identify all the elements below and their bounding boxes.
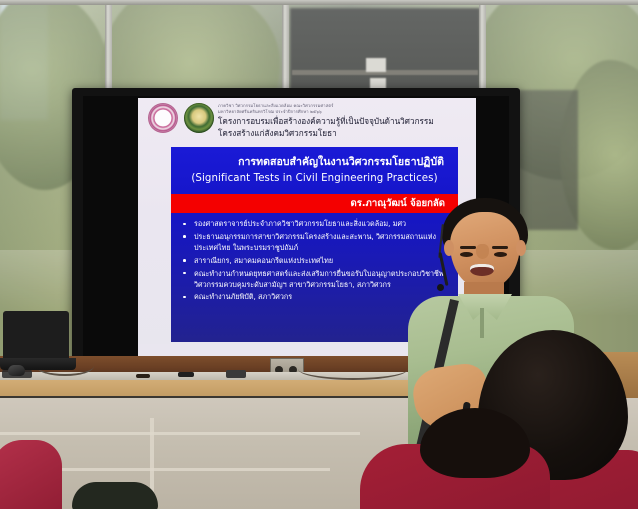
headset-microphone-boom [438,252,448,286]
project-line-1: โครงการอบรมเพื่อสร้างองค์ความรู้ที่เป็นป… [218,116,470,128]
slide-header-text: ภาควิชา วิศวกรรมโยธาและสิ่งแวดล้อม คณะวิ… [218,102,470,139]
audience-member [0,440,82,509]
presenter-laptop[interactable] [3,311,69,361]
presenter-mouth [470,264,494,276]
swu-logo-icon [148,103,178,133]
slide-title-zone: การทดสอบสำคัญในงานวิศวกรรมโยธาปฏิบัติ (S… [171,147,458,190]
presenter-eye-right [494,252,507,257]
slide-logos [148,103,214,133]
org-line-2: มหาวิทยาลัยศรีนครินทรวิโรฒ ประจำปีการศึก… [218,109,470,115]
slide-title-thai: การทดสอบสำคัญในงานวิศวกรรมโยธาปฏิบัติ [185,156,444,169]
presenter-eye-left [460,252,473,257]
floor-tile-line [0,432,360,435]
engineering-institute-logo-icon [184,103,214,133]
adapter-device-1 [178,372,194,377]
presentation-photo: ภาควิชา วิศวกรรมโยธาและสิ่งแวดล้อม คณะวิ… [0,0,638,509]
presenter-nose [476,244,489,259]
slide-title-english: (Significant Tests in Civil Engineering … [185,172,444,185]
audience-hair [420,408,530,478]
audience-shirt [0,440,62,509]
remote-control[interactable] [136,374,150,378]
cable-2 [298,358,408,380]
stool [72,482,158,509]
window-header-rail [0,0,638,5]
presenter-ear-left [444,240,454,256]
presenter-eyebrow-left [460,246,476,249]
project-line-2: โครงสร้างแก่สังคมวิศวกรรมโยธา [218,128,470,140]
adapter-device-2 [226,370,246,378]
headset-microphone-icon [437,284,444,291]
presenter-ear-right [516,240,526,256]
computer-mouse[interactable] [8,365,25,376]
presenter-eyebrow-right [492,246,508,249]
slide-header: ภาควิชา วิศวกรรมโยธาและสิ่งแวดล้อม คณะวิ… [138,98,476,150]
audience-member [360,408,540,509]
